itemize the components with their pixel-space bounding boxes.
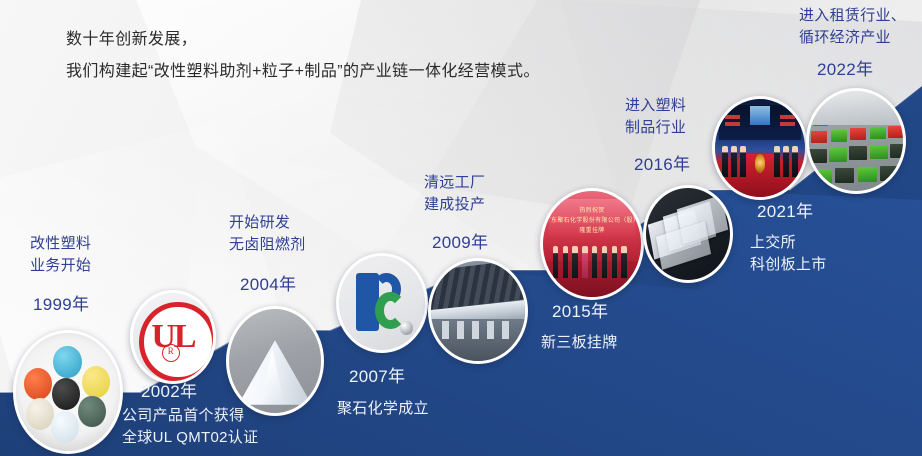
factory-machine (502, 321, 509, 339)
milestone-2021-year: 2021年 (757, 200, 813, 225)
ceremony-person (553, 246, 558, 278)
milestone-2004-desc: 开始研发 无卤阻燃剂 (229, 212, 306, 256)
milestone-2015-desc: 新三板挂牌 (541, 332, 618, 354)
crate (870, 145, 888, 159)
milestone-2021-desc: 上交所 科创板上市 (750, 232, 827, 276)
ipo-ticker (780, 115, 795, 119)
ipo-person (792, 146, 797, 177)
factory-machine (457, 321, 464, 339)
milestone-2004-desc-line1: 开始研发 (229, 212, 306, 234)
crate (870, 127, 886, 139)
milestone-2009-desc-line1: 清远工厂 (424, 172, 485, 194)
crate (831, 130, 847, 142)
milestone-2015-year: 2015年 (552, 300, 608, 325)
ul-certification-logo[interactable]: UL R (130, 290, 216, 384)
milestone-1999-desc-line2: 业务开始 (30, 255, 91, 277)
pellet-beige (26, 398, 54, 430)
pellet-orange (24, 368, 52, 400)
crate (888, 126, 903, 138)
pellet-yellow (82, 366, 110, 398)
ceremony-banner-line2: 广东聚石化学股份有限公司（股） (545, 215, 640, 224)
ipo-bell-ceremony-photo[interactable] (712, 96, 808, 200)
milestone-2021-desc-line2: 科创板上市 (750, 254, 827, 276)
milestone-1999-desc-line1: 改性塑料 (30, 233, 91, 255)
milestone-1999-year: 1999年 (33, 293, 89, 318)
ul-letters: UL (133, 293, 213, 381)
ipo-ticker (725, 122, 740, 126)
ul-registered-icon: R (162, 344, 180, 362)
white-powder-cone-photo[interactable] (226, 306, 324, 416)
crate (850, 128, 866, 140)
crate (890, 144, 905, 158)
milestone-2022-year: 2022年 (817, 58, 873, 83)
ceremony-red-banner: 热烈祝贺 广东聚石化学股份有限公司（股） 隆重挂牌 (549, 199, 635, 235)
ceremony-person (592, 246, 597, 278)
ipo-person (783, 146, 788, 177)
factory-interior-photo[interactable] (428, 258, 528, 364)
ipo-ticker (780, 122, 795, 126)
ipo-person (731, 146, 736, 177)
milestone-2007-desc: 聚石化学成立 (337, 398, 429, 420)
factory-machine (472, 321, 479, 339)
milestone-2009-desc: 清远工厂 建成投产 (424, 172, 485, 216)
ceremony-person (602, 246, 607, 278)
milestone-2016-desc: 进入塑料 制品行业 (625, 95, 686, 139)
crate (880, 166, 899, 181)
milestone-2016-desc-line1: 进入塑料 (625, 95, 686, 117)
milestone-2004-desc-line2: 无卤阻燃剂 (229, 234, 306, 256)
milestone-2022-desc: 进入租赁行业、 循环经济产业 (799, 5, 906, 49)
milestone-2007-year: 2007年 (349, 365, 405, 390)
company-logo[interactable] (336, 253, 428, 353)
factory-machine (487, 321, 494, 339)
pellet-black (52, 378, 80, 410)
milestone-2016-desc-line2: 制品行业 (625, 117, 686, 139)
pellet-white (51, 411, 79, 443)
milestone-2009-year: 2009年 (432, 231, 488, 256)
ceremony-person (612, 246, 617, 278)
ipo-ticker (725, 115, 740, 119)
factory-machine (442, 321, 449, 339)
ceremony-banner-line1: 热烈祝贺 (579, 205, 604, 214)
crate (811, 131, 827, 143)
pellet-cyan (53, 346, 81, 378)
crate (858, 167, 877, 182)
plastic-sheets-photo[interactable] (643, 185, 733, 283)
ipo-light-column (750, 106, 770, 124)
ipo-display-screen (719, 105, 802, 140)
intro-line-2: 我们构建起“改性塑料助剂+粒子+制品”的产业链一体化经营模式。 (66, 56, 540, 88)
intro-heading: 数十年创新发展， 我们构建起“改性塑料助剂+粒子+制品”的产业链一体化经营模式。 (66, 24, 540, 88)
ceremony-person (582, 246, 587, 278)
milestone-2002-year: 2002年 (141, 380, 197, 405)
logistics-crates-photo[interactable] (806, 88, 906, 194)
crate (813, 169, 832, 184)
milestone-2022-desc-line1: 进入租赁行业、 (799, 5, 906, 27)
warehouse-ceiling (809, 91, 903, 125)
intro-line-1: 数十年创新发展， (66, 24, 540, 56)
listing-ceremony-photo[interactable]: 热烈祝贺 广东聚石化学股份有限公司（股） 隆重挂牌 (540, 188, 644, 300)
milestone-2009-desc-line2: 建成投产 (424, 194, 485, 216)
milestone-2002-desc-line2: 全球UL QMT02认证 (122, 427, 258, 449)
milestone-2007-desc-line1: 聚石化学成立 (337, 398, 429, 420)
ipo-person (722, 146, 727, 177)
ipo-person (740, 146, 745, 177)
crate (835, 168, 854, 183)
company-timeline-infographic: 数十年创新发展， 我们构建起“改性塑料助剂+粒子+制品”的产业链一体化经营模式。… (0, 0, 922, 456)
pellet-green (78, 396, 106, 428)
milestone-1999-desc: 改性塑料 业务开始 (30, 233, 91, 277)
milestone-2016-year: 2016年 (634, 153, 690, 178)
ceremony-banner-line3: 隆重挂牌 (579, 225, 604, 234)
plastic-pellets-dish-photo[interactable] (13, 330, 123, 454)
crate (849, 146, 867, 160)
crate (829, 148, 847, 162)
milestone-2015-desc-line1: 新三板挂牌 (541, 332, 618, 354)
milestone-2022-desc-line2: 循环经济产业 (799, 27, 906, 49)
ipo-person (774, 146, 779, 177)
milestone-2021-desc-line1: 上交所 (750, 232, 827, 254)
ceremony-person (572, 246, 577, 278)
logo-sphere-icon (400, 321, 413, 335)
crate (809, 149, 827, 163)
milestone-2004-year: 2004年 (240, 273, 296, 298)
ceremony-person (621, 246, 626, 278)
ceremony-person (563, 246, 568, 278)
